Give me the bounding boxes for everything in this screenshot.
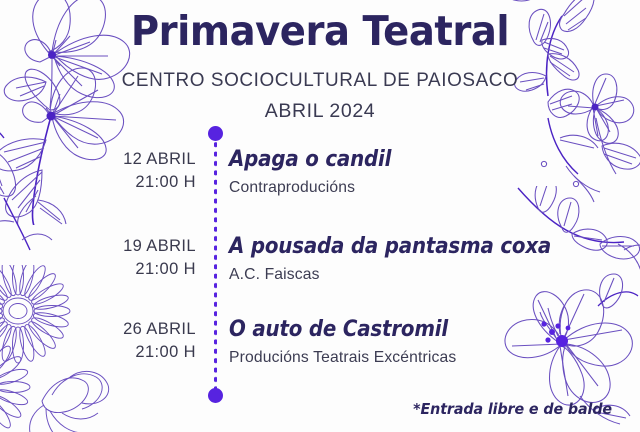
timeline-dot-top-icon [208,126,223,141]
poster-heading: Primavera Teatral CENTRO SOCIOCULTURAL D… [0,8,640,123]
event-company: A.C. Faiscas [229,266,621,284]
event-date: 26 ABRIL 21:00 H [0,318,196,364]
event-day: 19 ABRIL [0,235,196,258]
event-title: A pousada da pantasma coxa [229,235,581,259]
page-title: Primavera Teatral [19,8,621,55]
event-body: O auto de Castromil Producións Teatrais … [229,318,629,367]
event-body: A pousada da pantasma coxa A.C. Faiscas [229,235,629,284]
month-label: ABRIL 2024 [0,100,640,123]
event-date: 12 ABRIL 21:00 H [0,148,196,194]
event-time: 21:00 H [0,341,196,364]
event-company: Contraproducións [229,179,621,197]
event-title: O auto de Castromil [229,318,581,342]
list-item: 26 ABRIL 21:00 H O auto de Castromil Pro… [0,318,640,388]
event-time: 21:00 H [0,171,196,194]
event-title: Apaga o candil [229,148,581,172]
event-company: Producións Teatrais Excéntricas [229,349,621,367]
list-item: 19 ABRIL 21:00 H A pousada da pantasma c… [0,235,640,305]
event-date: 19 ABRIL 21:00 H [0,235,196,281]
footnote: *Entrada libre e de balde [31,400,612,418]
list-item: 12 ABRIL 21:00 H Apaga o candil Contrapr… [0,148,640,218]
event-day: 26 ABRIL [0,318,196,341]
event-time: 21:00 H [0,258,196,281]
poster-canvas: Primavera Teatral CENTRO SOCIOCULTURAL D… [0,0,640,432]
event-body: Apaga o candil Contraproducións [229,148,629,197]
venue-label: CENTRO SOCIOCULTURAL DE PAIOSACO [10,69,631,92]
event-day: 12 ABRIL [0,148,196,171]
